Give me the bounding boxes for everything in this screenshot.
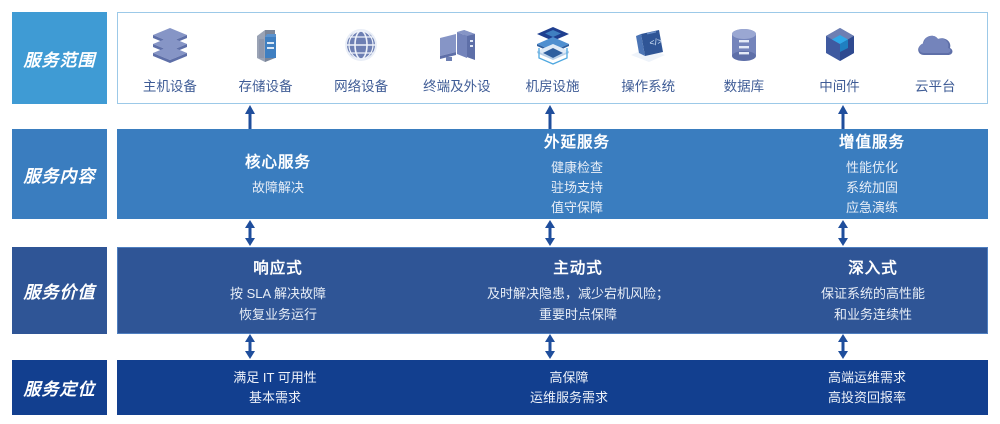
value-column-title: 深入式 bbox=[848, 256, 898, 278]
scope-item-label: 操作系统 bbox=[621, 75, 675, 95]
globe-network-icon bbox=[338, 22, 384, 68]
arrow-position-to-value-left bbox=[243, 334, 257, 359]
value-line: 保证系统的高性能 bbox=[821, 284, 925, 304]
scope-item-label: 机房设施 bbox=[526, 75, 580, 95]
value-column-deep[interactable]: 深入式 保证系统的高性能 和业务连续性 bbox=[768, 248, 978, 333]
arrow-position-to-value-center bbox=[543, 334, 557, 359]
cloud-platform-icon bbox=[912, 22, 958, 68]
content-column-title: 核心服务 bbox=[245, 150, 311, 172]
row-label-scope-text: 服务范围 bbox=[24, 46, 96, 71]
content-line: 驻场支持 bbox=[551, 178, 603, 198]
position-column-basic[interactable]: 满足 IT 可用性 基本需求 bbox=[175, 360, 375, 415]
content-column-core[interactable]: 核心服务 故障解决 bbox=[183, 129, 373, 219]
storage-array-icon bbox=[243, 22, 289, 68]
position-line: 高端运维需求 bbox=[828, 368, 906, 388]
content-column-lines: 健康检查 驻场支持 值守保障 bbox=[551, 158, 603, 218]
scope-item-os[interactable]: </> 操作系统 bbox=[600, 22, 696, 95]
arrow-value-to-content-right bbox=[836, 220, 850, 246]
scope-item-database[interactable]: 数据库 bbox=[696, 22, 792, 95]
scope-item-cloud[interactable]: 云平台 bbox=[887, 22, 983, 95]
datacenter-facility-icon bbox=[530, 22, 576, 68]
value-line: 及时解决隐患，减少宕机风险； bbox=[487, 284, 669, 304]
content-column-extended[interactable]: 外延服务 健康检查 驻场支持 值守保障 bbox=[477, 129, 677, 219]
arrow-position-to-value-right bbox=[836, 334, 850, 359]
content-column-title: 增值服务 bbox=[839, 130, 905, 152]
position-column-lines: 满足 IT 可用性 基本需求 bbox=[233, 368, 317, 407]
content-line: 应急演练 bbox=[846, 198, 898, 218]
middleware-cube-icon bbox=[817, 22, 863, 68]
content-column-lines: 性能优化 系统加固 应急演练 bbox=[846, 158, 898, 218]
database-cylinder-icon bbox=[721, 22, 767, 68]
position-line: 高保障 bbox=[530, 368, 608, 388]
content-line: 性能优化 bbox=[846, 158, 898, 178]
row-label-position-text: 服务定位 bbox=[24, 375, 96, 400]
content-line: 值守保障 bbox=[551, 198, 603, 218]
position-band: 满足 IT 可用性 基本需求 高保障 运维服务需求 高端运维需求 高投资回报率 bbox=[117, 360, 988, 415]
scope-item-terminal[interactable]: 终端及外设 bbox=[409, 22, 505, 95]
arrow-content-to-scope-left bbox=[243, 105, 257, 129]
row-position-body: 满足 IT 可用性 基本需求 高保障 运维服务需求 高端运维需求 高投资回报率 bbox=[117, 360, 988, 415]
value-column-reactive[interactable]: 响应式 按 SLA 解决故障 恢复业务运行 bbox=[178, 248, 378, 333]
value-column-lines: 保证系统的高性能 和业务连续性 bbox=[821, 284, 925, 324]
arrow-value-to-content-center bbox=[543, 220, 557, 246]
row-value-body: 响应式 按 SLA 解决故障 恢复业务运行 主动式 及时解决隐患，减少宕机风险；… bbox=[117, 247, 988, 334]
position-column-assurance[interactable]: 高保障 运维服务需求 bbox=[469, 360, 669, 415]
position-line: 高投资回报率 bbox=[828, 388, 906, 408]
row-label-position: 服务定位 bbox=[12, 360, 107, 415]
value-column-lines: 及时解决隐患，减少宕机风险； 重要时点保障 bbox=[487, 284, 669, 324]
position-column-lines: 高端运维需求 高投资回报率 bbox=[828, 368, 906, 407]
row-label-scope: 服务范围 bbox=[12, 12, 107, 104]
scope-item-label: 存储设备 bbox=[239, 75, 293, 95]
scope-item-middleware[interactable]: 中间件 bbox=[792, 22, 888, 95]
row-scope-body: 主机设备 存储设备 bbox=[117, 12, 988, 104]
arrow-content-to-scope-right bbox=[836, 105, 850, 129]
row-label-value: 服务价值 bbox=[12, 247, 107, 334]
value-line: 按 SLA 解决故障 bbox=[230, 284, 326, 304]
value-band: 响应式 按 SLA 解决故障 恢复业务运行 主动式 及时解决隐患，减少宕机风险；… bbox=[117, 247, 988, 334]
position-line: 基本需求 bbox=[233, 388, 317, 408]
position-line: 运维服务需求 bbox=[530, 388, 608, 408]
arrow-content-to-scope-center bbox=[543, 105, 557, 129]
scope-item-network[interactable]: 网络设备 bbox=[313, 22, 409, 95]
arrow-value-to-content-left bbox=[243, 220, 257, 246]
row-label-content-text: 服务内容 bbox=[24, 162, 96, 187]
scope-item-host[interactable]: 主机设备 bbox=[122, 22, 218, 95]
scope-item-label: 网络设备 bbox=[334, 75, 388, 95]
desktop-peripheral-icon bbox=[434, 22, 480, 68]
scope-item-datacenter[interactable]: 机房设施 bbox=[505, 22, 601, 95]
scope-item-label: 数据库 bbox=[724, 75, 765, 95]
content-column-valueadd[interactable]: 增值服务 性能优化 系统加固 应急演练 bbox=[772, 129, 972, 219]
server-stack-icon bbox=[147, 22, 193, 68]
scope-card: 主机设备 存储设备 bbox=[117, 12, 988, 104]
scope-item-label: 云平台 bbox=[915, 75, 956, 95]
diagram-canvas: 服务范围 主机设备 bbox=[0, 0, 1000, 424]
position-column-highend[interactable]: 高端运维需求 高投资回报率 bbox=[762, 360, 972, 415]
content-line: 系统加固 bbox=[846, 178, 898, 198]
row-label-value-text: 服务价值 bbox=[24, 278, 96, 303]
value-line: 恢复业务运行 bbox=[230, 305, 326, 325]
content-line: 健康检查 bbox=[551, 158, 603, 178]
scope-item-label: 中间件 bbox=[819, 75, 860, 95]
scope-item-label: 终端及外设 bbox=[423, 75, 491, 95]
value-line: 重要时点保障 bbox=[487, 305, 669, 325]
position-column-lines: 高保障 运维服务需求 bbox=[530, 368, 608, 407]
position-line: 满足 IT 可用性 bbox=[233, 368, 317, 388]
content-line: 故障解决 bbox=[252, 178, 304, 198]
scope-item-label: 主机设备 bbox=[143, 75, 197, 95]
os-book-icon: </> bbox=[625, 22, 671, 68]
content-column-title: 外延服务 bbox=[544, 130, 610, 152]
value-column-title: 主动式 bbox=[553, 256, 603, 278]
value-column-proactive[interactable]: 主动式 及时解决隐患，减少宕机风险； 重要时点保障 bbox=[448, 248, 708, 333]
value-column-lines: 按 SLA 解决故障 恢复业务运行 bbox=[230, 284, 326, 324]
value-line: 和业务连续性 bbox=[821, 305, 925, 325]
content-band: 核心服务 故障解决 外延服务 健康检查 驻场支持 值守保障 增值服务 性能优化 … bbox=[117, 129, 988, 219]
scope-item-storage[interactable]: 存储设备 bbox=[218, 22, 314, 95]
value-column-title: 响应式 bbox=[253, 256, 303, 278]
content-column-lines: 故障解决 bbox=[252, 178, 304, 198]
row-content-body: 核心服务 故障解决 外延服务 健康检查 驻场支持 值守保障 增值服务 性能优化 … bbox=[117, 129, 988, 219]
row-label-content: 服务内容 bbox=[12, 129, 107, 219]
